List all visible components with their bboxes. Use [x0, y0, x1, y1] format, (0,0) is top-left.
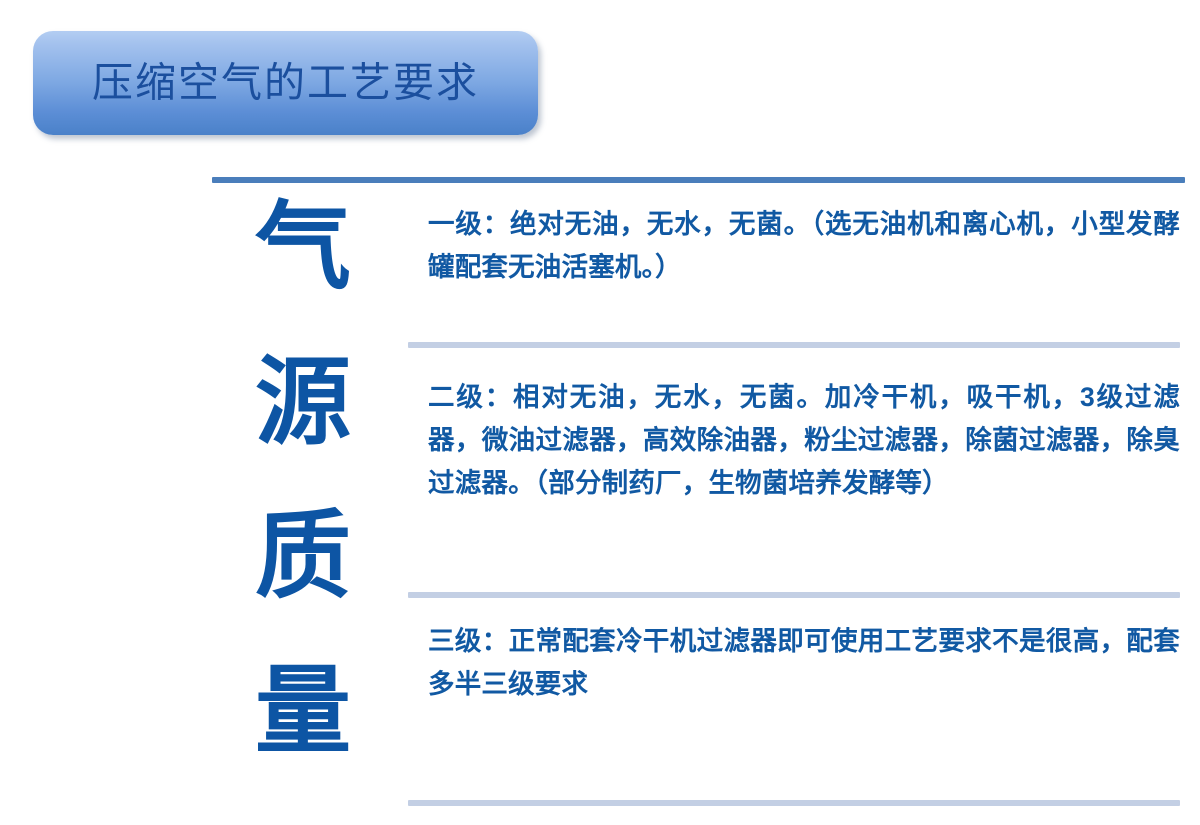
divider-top	[212, 177, 1185, 183]
vertical-label-char-3: 质	[255, 509, 351, 605]
content-block-level-3-text: 三级：正常配套冷干机过滤器即可使用工艺要求不是很高，配套多半三级要求	[428, 620, 1180, 706]
content-block-level-2: 二级：相对无油，无水，无菌。加冷干机，吸干机，3级过滤器，微油过滤器，高效除油器…	[428, 376, 1180, 505]
page-title: 压缩空气的工艺要求	[33, 60, 538, 105]
vertical-category-label: 气 源 质 量	[238, 200, 368, 760]
content-block-level-1-text: 一级：绝对无油，无水，无菌。（选无油机和离心机，小型发酵罐配套无油活塞机。）	[428, 203, 1180, 289]
vertical-label-char-2: 源	[255, 355, 351, 451]
slide-title-banner: 压缩空气的工艺要求	[33, 31, 538, 135]
vertical-label-char-1: 气	[255, 200, 351, 296]
content-block-level-2-text: 二级：相对无油，无水，无菌。加冷干机，吸干机，3级过滤器，微油过滤器，高效除油器…	[428, 376, 1180, 505]
content-block-level-3: 三级：正常配套冷干机过滤器即可使用工艺要求不是很高，配套多半三级要求	[428, 620, 1180, 706]
divider-bottom	[408, 800, 1180, 806]
divider-between-block-2-and-3	[408, 592, 1180, 598]
content-block-level-1: 一级：绝对无油，无水，无菌。（选无油机和离心机，小型发酵罐配套无油活塞机。）	[428, 203, 1180, 289]
divider-between-block-1-and-2	[408, 342, 1180, 348]
vertical-label-char-4: 量	[255, 664, 351, 760]
